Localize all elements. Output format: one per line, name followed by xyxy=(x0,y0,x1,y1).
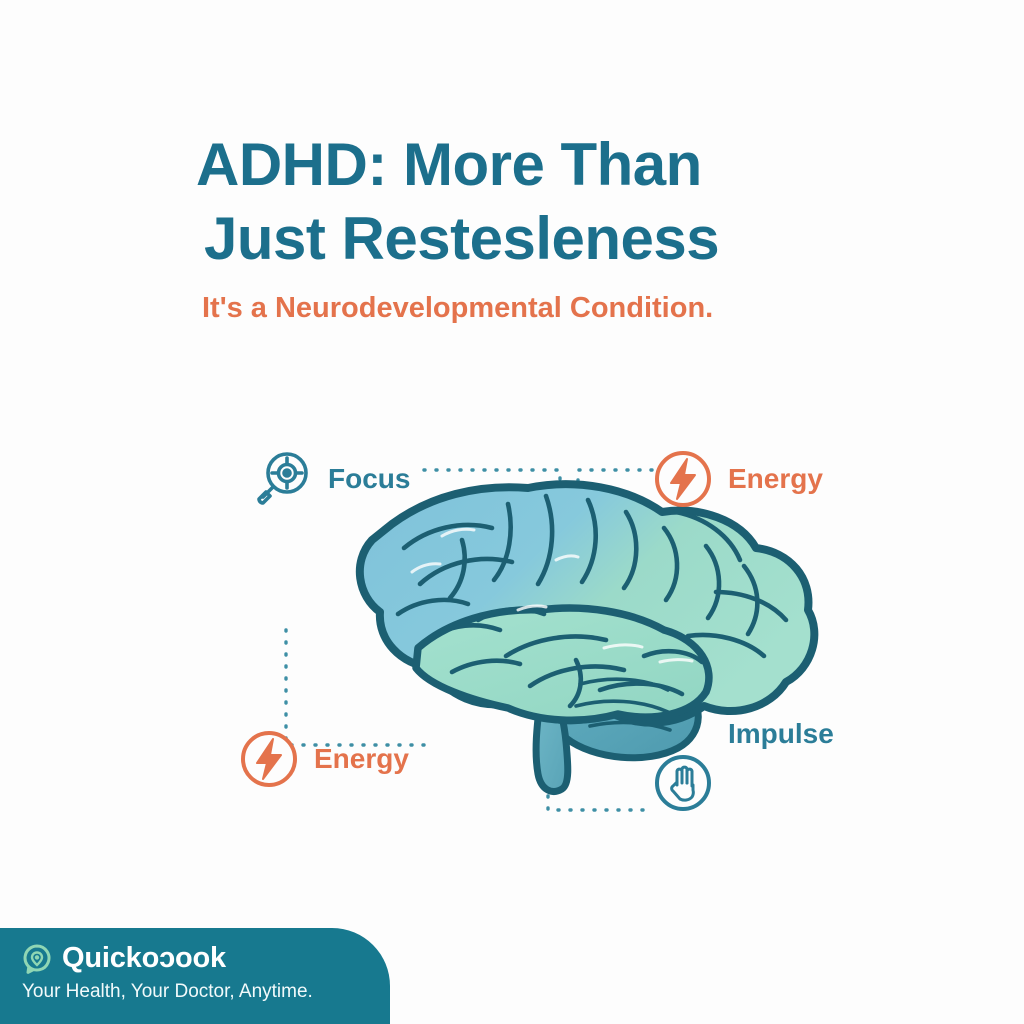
title-line-1: ADHD: More Than xyxy=(196,128,896,202)
footer-banner: Quickoɔook Your Health, Your Doctor, Any… xyxy=(0,928,390,1024)
brain-highlights xyxy=(412,529,692,662)
brain-cerebrum xyxy=(360,484,815,723)
raised-hand-icon xyxy=(652,752,714,814)
infographic-canvas: ADHD: More Than Just Restesleness It's a… xyxy=(0,0,1024,1024)
feature-node-energy-bottom[interactable]: Energy xyxy=(238,728,409,790)
brain-gyri xyxy=(398,496,786,706)
brand-row: Quickoɔook xyxy=(22,942,390,975)
brain-temporal-lobe xyxy=(416,608,709,720)
brand-name: Quickoɔook xyxy=(62,942,226,975)
feature-node-impulse[interactable]: Impulse xyxy=(652,740,834,814)
brand-tagline: Your Health, Your Doctor, Anytime. xyxy=(22,981,390,1003)
lightning-bolt-icon xyxy=(238,728,300,790)
feature-label-impulse: Impulse xyxy=(728,718,834,750)
lightning-bolt-icon xyxy=(652,448,714,510)
feature-label-focus: Focus xyxy=(328,463,410,495)
feature-node-focus[interactable]: Focus xyxy=(252,448,410,510)
heading-block: ADHD: More Than Just Restesleness It's a… xyxy=(196,128,896,326)
connector-focus xyxy=(424,470,560,520)
brain-stem xyxy=(536,698,568,791)
title-line-2: Just Restesleness xyxy=(196,202,896,276)
feature-node-energy-top[interactable]: Energy xyxy=(652,448,823,510)
connector-stem xyxy=(548,760,650,810)
cerebellum-folds xyxy=(576,679,670,730)
magnifier-target-icon xyxy=(252,448,314,510)
subtitle: It's a Neurodevelopmental Condition. xyxy=(196,290,896,326)
connector-energy-top xyxy=(578,470,652,520)
feature-label-energy-bottom: Energy xyxy=(314,743,409,775)
quickbook-pin-bubble-logo-icon xyxy=(22,944,52,974)
connector-impulse xyxy=(640,634,690,730)
feature-label-energy-top: Energy xyxy=(728,463,823,495)
